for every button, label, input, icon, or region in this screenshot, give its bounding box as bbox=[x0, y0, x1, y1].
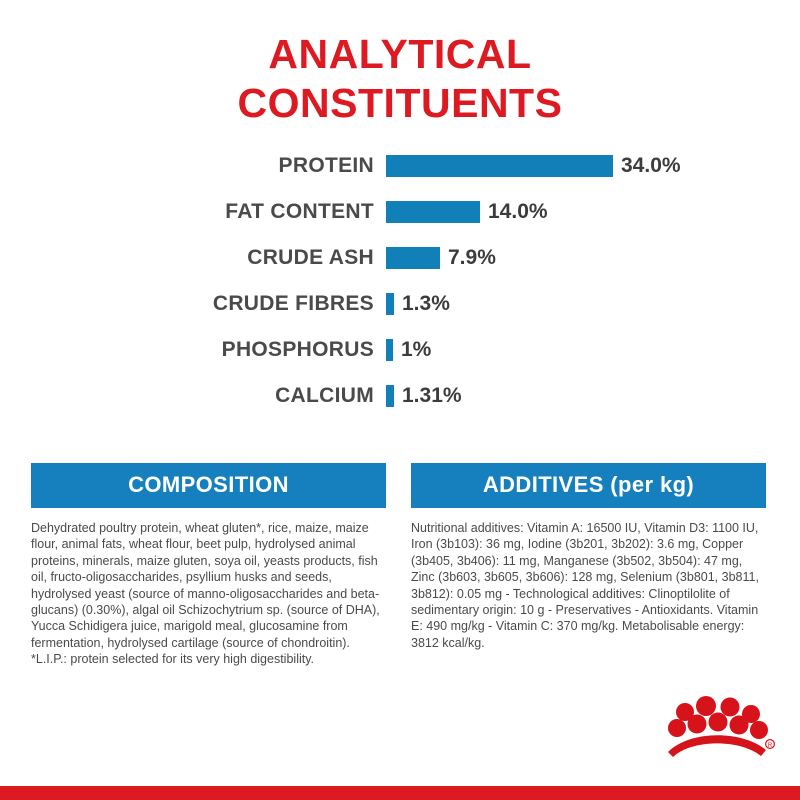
bar-value-calcium: 1.31% bbox=[402, 384, 462, 408]
bar-wrap-protein: 34.0% bbox=[386, 154, 681, 178]
composition-panel-header: COMPOSITION bbox=[31, 463, 386, 508]
table-row: CALCIUM 1.31% bbox=[0, 382, 800, 410]
trademark-symbol: R bbox=[766, 740, 775, 749]
bar-label-calcium: CALCIUM bbox=[0, 384, 386, 408]
table-row: CRUDE FIBRES 1.3% bbox=[0, 290, 800, 318]
analytical-constituents-bar-chart: PROTEIN 34.0% FAT CONTENT 14.0% CRUDE AS… bbox=[0, 152, 800, 410]
bar-value-phosphorus: 1% bbox=[401, 338, 431, 362]
table-row: FAT CONTENT 14.0% bbox=[0, 198, 800, 226]
bar-value-protein: 34.0% bbox=[621, 154, 681, 178]
additives-panel-body: Nutritional additives: Vitamin A: 16500 … bbox=[411, 520, 766, 651]
bar-wrap-calcium: 1.31% bbox=[386, 384, 462, 408]
table-row: PHOSPHORUS 1% bbox=[0, 336, 800, 364]
svg-text:R: R bbox=[768, 743, 773, 749]
bar-label-phosphorus: PHOSPHORUS bbox=[0, 338, 386, 362]
royal-canin-crown-logo: R bbox=[660, 696, 778, 758]
bar-fill-crude-ash bbox=[386, 247, 440, 269]
footer-stripe bbox=[0, 786, 800, 800]
bar-wrap-phosphorus: 1% bbox=[386, 338, 431, 362]
additives-panel-header: ADDITIVES (per kg) bbox=[411, 463, 766, 508]
bar-fill-calcium bbox=[386, 385, 394, 407]
bar-wrap-crude-ash: 7.9% bbox=[386, 246, 496, 270]
bar-value-crude-ash: 7.9% bbox=[448, 246, 496, 270]
page-title-line-1: ANALYTICAL bbox=[0, 30, 800, 79]
bar-wrap-fat-content: 14.0% bbox=[386, 200, 548, 224]
table-row: PROTEIN 34.0% bbox=[0, 152, 800, 180]
bar-fill-phosphorus bbox=[386, 339, 393, 361]
bar-value-crude-fibres: 1.3% bbox=[402, 292, 450, 316]
table-row: CRUDE ASH 7.9% bbox=[0, 244, 800, 272]
bar-fill-protein bbox=[386, 155, 613, 177]
bar-label-protein: PROTEIN bbox=[0, 154, 386, 178]
bar-label-crude-fibres: CRUDE FIBRES bbox=[0, 292, 386, 316]
bar-fill-crude-fibres bbox=[386, 293, 394, 315]
additives-panel: ADDITIVES (per kg) Nutritional additives… bbox=[411, 463, 766, 668]
composition-panel: COMPOSITION Dehydrated poultry protein, … bbox=[31, 463, 386, 668]
info-panels: COMPOSITION Dehydrated poultry protein, … bbox=[31, 463, 766, 668]
bar-label-fat-content: FAT CONTENT bbox=[0, 200, 386, 224]
bar-fill-fat-content bbox=[386, 201, 480, 223]
bar-label-crude-ash: CRUDE ASH bbox=[0, 246, 386, 270]
bar-wrap-crude-fibres: 1.3% bbox=[386, 292, 450, 316]
page-title-line-2: CONSTITUENTS bbox=[0, 79, 800, 128]
bar-value-fat-content: 14.0% bbox=[488, 200, 548, 224]
page-title: ANALYTICAL CONSTITUENTS bbox=[0, 0, 800, 128]
composition-panel-body: Dehydrated poultry protein, wheat gluten… bbox=[31, 520, 386, 668]
